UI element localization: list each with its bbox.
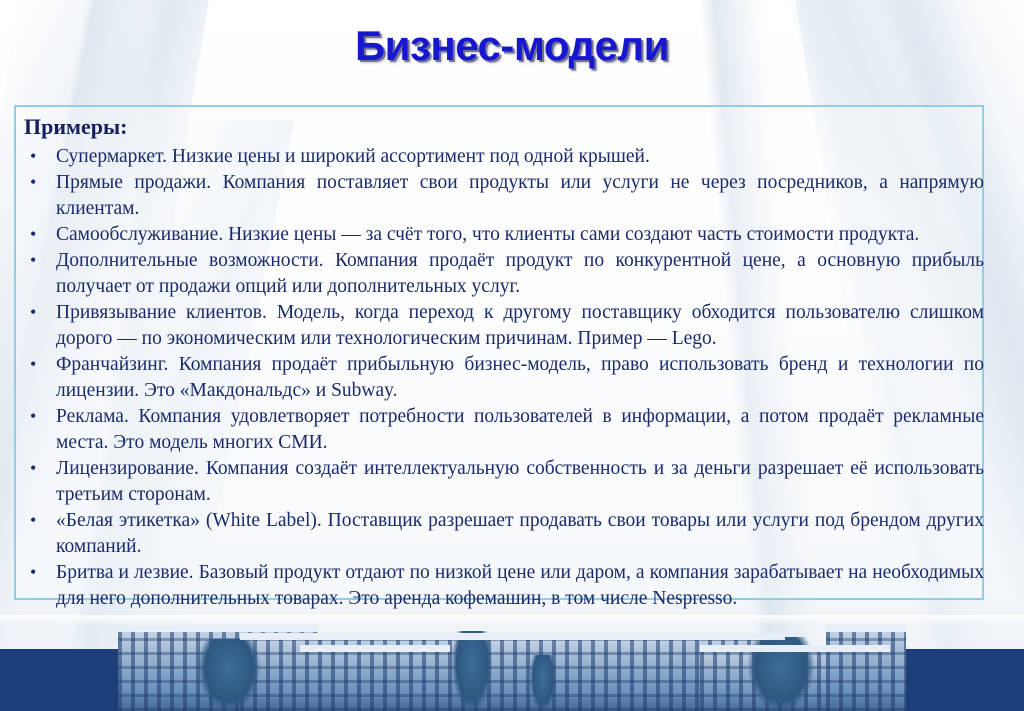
footer-top-fade bbox=[0, 615, 1024, 625]
list-item-text: Привязывание клиентов. Модель, когда пер… bbox=[56, 302, 984, 349]
building-roof bbox=[240, 633, 785, 640]
list-item: Реклама. Компания удовлетворяет потребно… bbox=[22, 404, 984, 456]
list-item: Самообслуживание. Низкие цены — за счёт … bbox=[22, 222, 984, 248]
tree-silhouette bbox=[530, 655, 556, 711]
content-body: Примеры: Супермаркет. Низкие цены и широ… bbox=[22, 112, 984, 612]
examples-list: Супермаркет. Низкие цены и широкий ассор… bbox=[22, 144, 984, 612]
list-item: Бритва и лезвие. Базовый продукт отдают … bbox=[22, 560, 984, 612]
list-item-text: «Белая этикетка» (White Label). Поставщи… bbox=[56, 510, 984, 557]
list-item: Франчайзинг. Компания продаёт прибыльную… bbox=[22, 352, 984, 404]
list-item: Привязывание клиентов. Модель, когда пер… bbox=[22, 300, 984, 352]
list-item: «Белая этикетка» (White Label). Поставщи… bbox=[22, 508, 984, 560]
building-roof bbox=[826, 625, 906, 632]
building-roof bbox=[118, 625, 318, 632]
slide: Бизнес-модели Примеры: Супермаркет. Низк… bbox=[0, 0, 1024, 711]
list-item-text: Супермаркет. Низкие цены и широкий ассор… bbox=[56, 146, 650, 167]
list-item-text: Бритва и лезвие. Базовый продукт отдают … bbox=[56, 562, 984, 609]
list-item: Лицензирование. Компания создаёт интелле… bbox=[22, 456, 984, 508]
footer-left-block bbox=[0, 649, 118, 711]
tree-silhouette bbox=[452, 631, 492, 711]
building-block bbox=[826, 625, 906, 711]
list-item-text: Дополнительные возможности. Компания про… bbox=[56, 250, 984, 297]
slide-title: Бизнес-модели bbox=[0, 22, 1024, 70]
building-roof bbox=[700, 645, 890, 652]
list-item-text: Реклама. Компания удовлетворяет потребно… bbox=[56, 406, 984, 453]
tree-silhouette bbox=[198, 639, 260, 711]
list-item: Дополнительные возможности. Компания про… bbox=[22, 248, 984, 300]
list-item-text: Франчайзинг. Компания продаёт прибыльную… bbox=[56, 354, 984, 401]
footer-building-image bbox=[0, 615, 1024, 711]
list-item-text: Самообслуживание. Низкие цены — за счёт … bbox=[56, 224, 919, 245]
list-item-text: Прямые продажи. Компания поставляет свои… bbox=[56, 172, 984, 219]
footer-right-block bbox=[906, 649, 1024, 711]
building-roof bbox=[300, 645, 450, 652]
examples-heading: Примеры: bbox=[22, 112, 984, 142]
list-item: Прямые продажи. Компания поставляет свои… bbox=[22, 170, 984, 222]
list-item-text: Лицензирование. Компания создаёт интелле… bbox=[56, 458, 984, 505]
list-item: Супермаркет. Низкие цены и широкий ассор… bbox=[22, 144, 984, 170]
